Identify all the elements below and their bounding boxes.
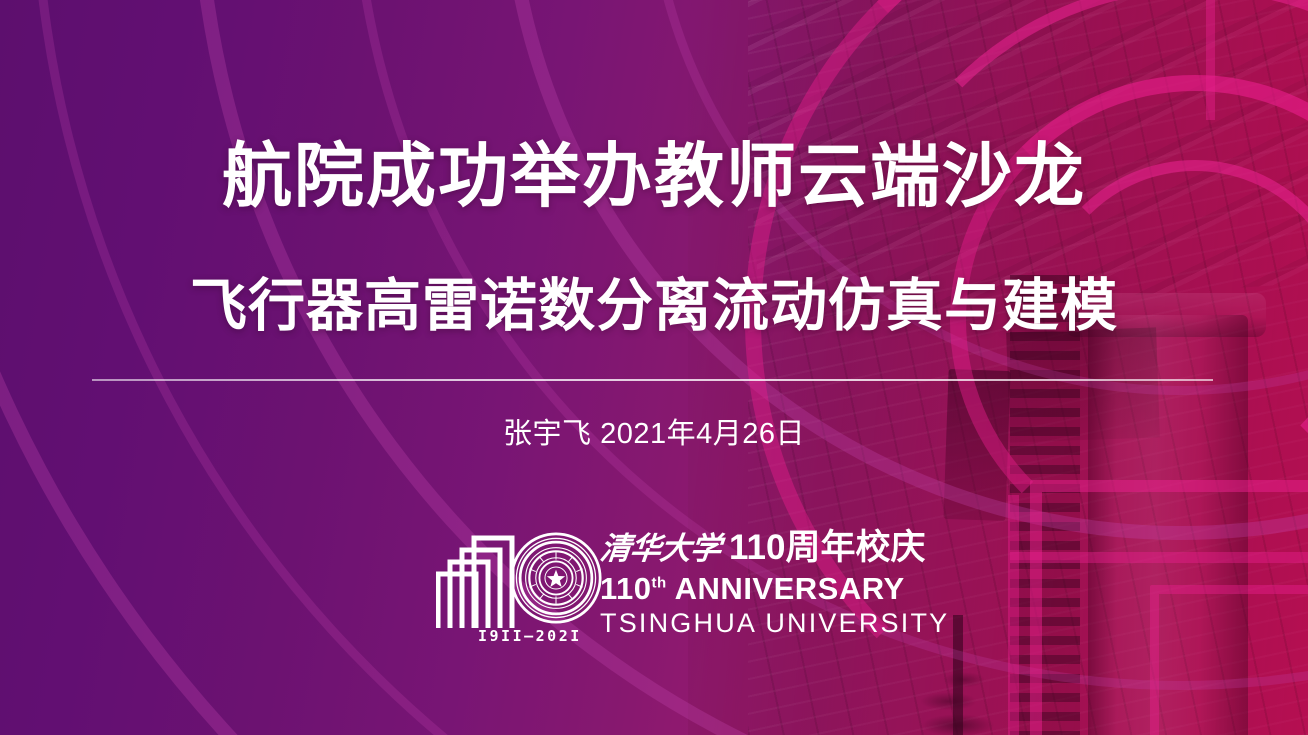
slide-subtitle: 飞行器高雷诺数分离流动仿真与建模 [0, 278, 1308, 335]
tsinghua-110-anniversary-logo: I9II—202I 清华大学 110周年校庆 110th ANNIVERSARY… [436, 528, 886, 648]
tsinghua-university-chinese-calligraphy: 清华大学 [598, 534, 721, 565]
slide-content: 航院成功举办教师云端沙龙 飞行器高雷诺数分离流动仿真与建模 张宇飞 2021年4… [0, 0, 1308, 735]
logo-mark-110: I9II—202I [436, 528, 596, 646]
anniversary-word: ANNIVERSARY [675, 571, 905, 606]
presentation-title-slide: 航院成功举办教师云端沙龙 飞行器高雷诺数分离流动仿真与建模 张宇飞 2021年4… [0, 0, 1308, 735]
logo-wordmark: 清华大学 110周年校庆 110th ANNIVERSARY TSINGHUA … [600, 528, 949, 638]
university-name-english: TSINGHUA UNIVERSITY [600, 608, 949, 638]
slide-title: 航院成功举办教师云端沙龙 [0, 141, 1308, 211]
anniversary-years: I9II—202I [478, 627, 582, 645]
anniversary-ordinal-suffix: th [652, 575, 667, 592]
logo-line-chinese: 清华大学 110周年校庆 [600, 530, 949, 572]
presenter-and-date: 张宇飞 2021年4月26日 [0, 410, 1308, 452]
anniversary-number: 110 [600, 571, 652, 606]
logo-line-anniversary-en: 110th ANNIVERSARY [600, 573, 949, 606]
title-divider-line [92, 379, 1213, 381]
anniversary-chinese-label: 110周年校庆 [729, 530, 925, 565]
tsinghua-seal-icon [510, 532, 602, 624]
